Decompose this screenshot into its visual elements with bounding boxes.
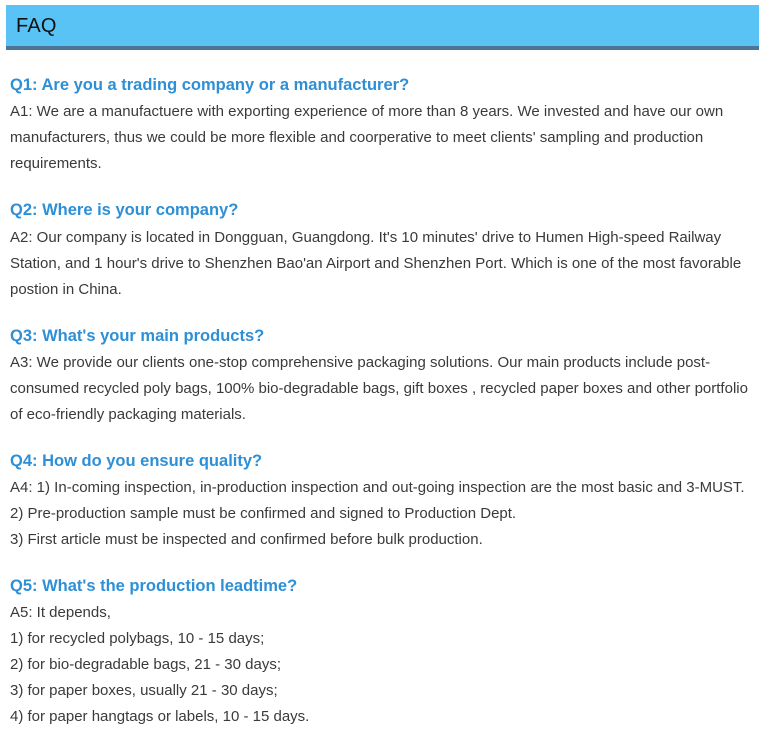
faq-answer-3: A3: We provide our clients one-stop comp…	[10, 350, 751, 428]
faq-question-3: Q3: What's your main products?	[10, 325, 751, 347]
faq-content: Q1: Are you a trading company or a manuf…	[0, 74, 765, 730]
faq-question-1: Q1: Are you a trading company or a manuf…	[10, 74, 751, 96]
faq-answer-2: A2: Our company is located in Dongguan, …	[10, 225, 751, 303]
faq-banner-title: FAQ	[16, 16, 57, 36]
faq-item-1: Q1: Are you a trading company or a manuf…	[10, 74, 751, 177]
faq-answer-line: 2) Pre-production sample must be confirm…	[10, 501, 751, 527]
faq-answer-line: 3) for paper boxes, usually 21 - 30 days…	[10, 678, 751, 704]
faq-answer-line: 1) for recycled polybags, 10 - 15 days;	[10, 626, 751, 652]
faq-item-3: Q3: What's your main products? A3: We pr…	[10, 325, 751, 428]
faq-answer-line: 2) for bio-degradable bags, 21 - 30 days…	[10, 652, 751, 678]
faq-answer-5: A5: It depends, 1) for recycled polybags…	[10, 600, 751, 730]
faq-answer-4: A4: 1) In-coming inspection, in-producti…	[10, 475, 751, 553]
faq-page: FAQ Q1: Are you a trading company or a m…	[0, 0, 765, 748]
faq-answer-line: 4) for paper hangtags or labels, 10 - 15…	[10, 704, 751, 730]
faq-question-2: Q2: Where is your company?	[10, 199, 751, 221]
faq-question-5: Q5: What's the production leadtime?	[10, 575, 751, 597]
faq-item-4: Q4: How do you ensure quality? A4: 1) In…	[10, 450, 751, 553]
faq-answer-line: A5: It depends,	[10, 600, 751, 626]
faq-item-5: Q5: What's the production leadtime? A5: …	[10, 575, 751, 730]
faq-banner: FAQ	[6, 5, 759, 50]
faq-question-4: Q4: How do you ensure quality?	[10, 450, 751, 472]
faq-answer-line: 3) First article must be inspected and c…	[10, 527, 751, 553]
faq-answer-1: A1: We are a manufactuere with exporting…	[10, 99, 751, 177]
faq-item-2: Q2: Where is your company? A2: Our compa…	[10, 199, 751, 302]
faq-answer-line: A4: 1) In-coming inspection, in-producti…	[10, 475, 751, 501]
